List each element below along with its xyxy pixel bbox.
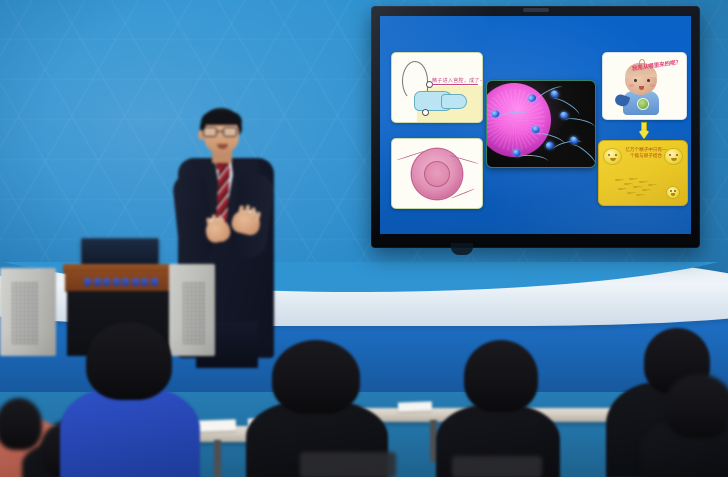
- arrow-head: [638, 130, 650, 139]
- chair-back: [300, 452, 396, 477]
- paper-sheet: [196, 419, 236, 431]
- sperm-glyph: [615, 179, 620, 181]
- tv-screen[interactable]: 精子进入宫腔，成了——: [380, 16, 691, 234]
- baby-cheek: [629, 84, 634, 87]
- sperm-glyph: [618, 188, 623, 190]
- nameplate-character: [122, 278, 129, 286]
- slide-panel-sperm-race: 亿万个精子中只有一个能与卵子结合: [598, 140, 688, 206]
- glasses-lens-left: [203, 127, 217, 137]
- audience-member-head: [86, 322, 172, 400]
- slide-panel-baby: 我是从哪里来的呢？: [602, 52, 687, 120]
- glasses-lens-right: [223, 127, 237, 137]
- sperm-glyph: [636, 194, 641, 196]
- floor-speaker-left: [0, 268, 56, 356]
- smiling-face-icon: [665, 149, 682, 164]
- lectern-nameplate: [69, 277, 173, 287]
- slide-panel-egg-cell: [391, 138, 483, 209]
- caption-leader-line: [432, 84, 478, 85]
- audience-member-head: [0, 398, 42, 450]
- baby-eye: [647, 79, 650, 82]
- face-eye: [674, 190, 676, 192]
- lecture-scene: 精子进入宫腔，成了——: [0, 0, 728, 477]
- nameplate-character: [84, 278, 91, 286]
- sperm-swarm-group: [615, 177, 665, 199]
- sperm-glyph: [648, 184, 653, 186]
- sperm-glyph: [627, 192, 632, 194]
- laptop-on-lectern[interactable]: [81, 238, 159, 265]
- baby-cheek: [650, 84, 655, 87]
- speaker-grille: [183, 282, 205, 344]
- egg-target-face-icon: [667, 187, 679, 198]
- sperm-dot-icon: [422, 109, 429, 116]
- chair-back: [452, 456, 542, 477]
- audience-member-head: [464, 340, 538, 412]
- nameplate-character: [151, 278, 158, 286]
- face-mouth: [671, 193, 675, 196]
- floor-speaker-right: [169, 264, 215, 356]
- audience-member-head: [272, 340, 360, 414]
- nameplate-character: [113, 278, 120, 286]
- wall-mounted-tv[interactable]: 精子进入宫腔，成了——: [371, 6, 700, 248]
- baby-eye: [634, 79, 637, 82]
- audience-member-head: [664, 374, 728, 438]
- speaker-grille: [12, 282, 38, 344]
- glasses-icon: [203, 127, 241, 137]
- uterus-shape-secondary: [441, 94, 467, 109]
- nameplate-character: [94, 278, 101, 286]
- slide-caption-sperm-diagram: 精子进入宫腔，成了——: [432, 77, 483, 84]
- baby-shirt-badge: [638, 99, 648, 109]
- face-mouth: [671, 158, 677, 161]
- nameplate-character: [141, 278, 148, 286]
- face-eye: [676, 154, 678, 156]
- sperm-glyph: [629, 178, 634, 180]
- face-eye: [670, 190, 672, 192]
- slide-panel-sperm-diagram: 精子进入宫腔，成了——: [391, 52, 483, 123]
- sperm-glyph: [624, 183, 629, 185]
- tv-wall-mount: [451, 243, 473, 255]
- glasses-bridge: [217, 131, 223, 132]
- smiling-face-icon: [604, 149, 621, 164]
- slide-panel-fertilization-photo: [486, 80, 596, 168]
- tv-brand-logo: [523, 8, 549, 12]
- face-mouth: [610, 158, 616, 161]
- desk-leg: [214, 440, 221, 477]
- face-eye: [669, 154, 671, 156]
- sperm-glyph: [633, 186, 638, 188]
- sperm-glyph: [642, 189, 647, 191]
- down-arrow-icon: [638, 122, 650, 139]
- nameplate-character: [103, 278, 110, 286]
- face-eye: [608, 154, 610, 156]
- egg-nucleus: [424, 161, 450, 187]
- face-eye: [615, 154, 617, 156]
- paper-sheet: [398, 401, 432, 411]
- presenter-hair-fringe: [201, 112, 242, 125]
- slide-caption-sperm-race: 亿万个精子中只有一个能与卵子结合: [625, 148, 667, 160]
- sperm-glyph: [639, 181, 644, 183]
- nameplate-character: [132, 278, 139, 286]
